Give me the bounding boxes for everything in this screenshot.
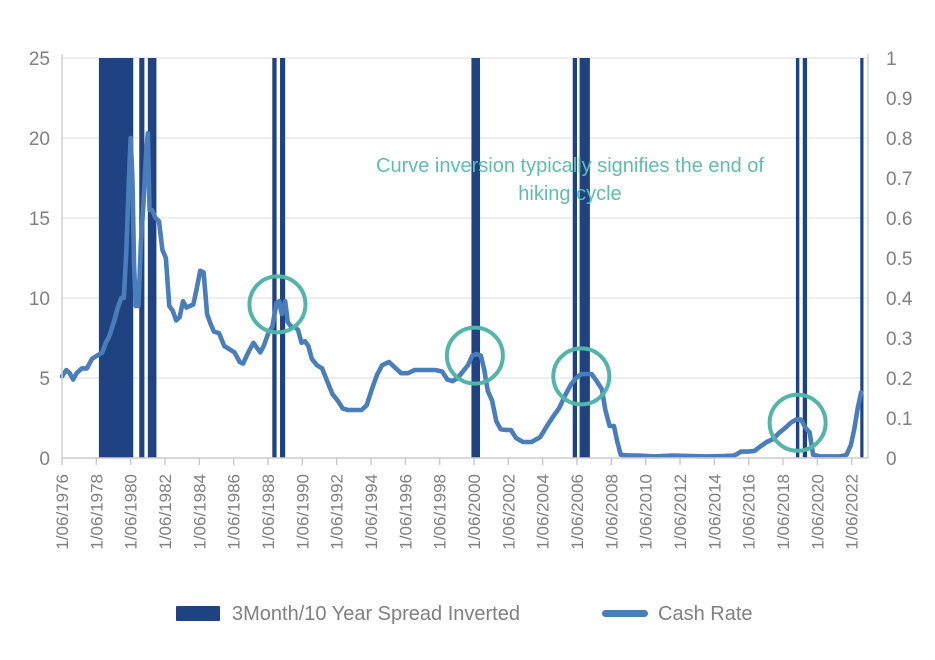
axes-group: 051015202500.10.20.30.40.50.60.70.80.91 bbox=[29, 49, 913, 470]
y-axis-right-tick-label: 0.1 bbox=[886, 409, 912, 430]
y-axis-right-tick-label: 0.8 bbox=[886, 129, 912, 150]
legend-swatch-spread-inverted bbox=[176, 606, 220, 621]
y-axis-left-tick-label: 25 bbox=[29, 49, 50, 70]
inversion-band bbox=[573, 58, 577, 458]
x-axis-tick-label: 1/06/1976 bbox=[53, 474, 72, 550]
inversion-band bbox=[471, 58, 480, 458]
legend-label-cash-rate: Cash Rate bbox=[658, 603, 753, 625]
x-axis-tick-label: 1/06/2010 bbox=[637, 474, 656, 550]
y-axis-right-tick-label: 1 bbox=[886, 49, 897, 70]
y-axis-left-tick-label: 15 bbox=[29, 209, 50, 230]
cash-rate-line-group bbox=[62, 133, 861, 456]
y-axis-right-tick-label: 0.2 bbox=[886, 369, 912, 390]
x-axis-tick-label: 1/06/1986 bbox=[225, 474, 244, 550]
inversion-bands-group bbox=[99, 58, 864, 458]
highlight-circles-group bbox=[249, 276, 825, 450]
y-axis-right-tick-label: 0.6 bbox=[886, 209, 912, 230]
x-axis-tick-label: 1/06/1996 bbox=[396, 474, 415, 550]
x-axis-tick-label: 1/06/1984 bbox=[190, 474, 209, 550]
y-axis-right-tick-label: 0.9 bbox=[886, 89, 912, 110]
cash-rate-inversion-chart: 051015202500.10.20.30.40.50.60.70.80.91 … bbox=[0, 0, 935, 655]
x-axis-tick-label: 1/06/2016 bbox=[740, 474, 759, 550]
annotation-line-1: Curve inversion typically signifies the … bbox=[376, 155, 764, 177]
legend-label-spread-inverted: 3Month/10 Year Spread Inverted bbox=[232, 603, 520, 625]
x-axis-tick-label: 1/06/1982 bbox=[156, 474, 175, 550]
x-axis-tick-label: 1/06/1990 bbox=[293, 474, 312, 550]
x-axis-tick-label: 1/06/1994 bbox=[362, 474, 381, 550]
chart-legend: 3Month/10 Year Spread Inverted Cash Rate bbox=[176, 603, 753, 625]
x-axis-tick-label: 1/06/2022 bbox=[843, 474, 862, 550]
inversion-band bbox=[580, 58, 590, 458]
x-axis-tick-label: 1/06/1998 bbox=[431, 474, 450, 550]
x-axis-tick-label: 1/06/2012 bbox=[671, 474, 690, 550]
y-axis-right-tick-label: 0.7 bbox=[886, 169, 912, 190]
chart-annotation-group: Curve inversion typically signifies the … bbox=[376, 155, 764, 205]
y-axis-right-tick-label: 0 bbox=[886, 449, 897, 470]
x-axis-tick-label: 1/06/2018 bbox=[774, 474, 793, 550]
x-axis-tick-label: 1/06/2006 bbox=[568, 474, 587, 550]
cash-rate-line bbox=[62, 133, 861, 456]
y-axis-right-tick-label: 0.4 bbox=[886, 289, 913, 310]
y-axis-right-tick-label: 0.5 bbox=[886, 249, 912, 270]
inversion-band bbox=[280, 58, 285, 458]
y-axis-right-tick-label: 0.3 bbox=[886, 329, 912, 350]
x-axis-tick-label: 1/06/1980 bbox=[122, 474, 141, 550]
x-axis-tick-label: 1/06/2000 bbox=[465, 474, 484, 550]
y-axis-left-tick-label: 0 bbox=[39, 449, 50, 470]
x-axis-tick-label: 1/06/2014 bbox=[705, 474, 724, 550]
chart-container: 051015202500.10.20.30.40.50.60.70.80.91 … bbox=[0, 0, 935, 655]
inversion-band bbox=[796, 58, 799, 458]
x-tick-labels-group: 1/06/19761/06/19781/06/19801/06/19821/06… bbox=[53, 474, 862, 550]
x-axis-tick-label: 1/06/2020 bbox=[808, 474, 827, 550]
x-axis-tick-label: 1/06/1978 bbox=[87, 474, 106, 550]
annotation-line-2: hiking cycle bbox=[518, 183, 621, 205]
y-axis-left-tick-label: 20 bbox=[29, 129, 50, 150]
x-axis-tick-label: 1/06/2008 bbox=[602, 474, 621, 550]
y-axis-left-tick-label: 5 bbox=[39, 369, 50, 390]
inversion-band bbox=[148, 58, 157, 458]
legend-swatch-cash-rate bbox=[602, 610, 648, 617]
x-axis-tick-label: 1/06/1992 bbox=[328, 474, 347, 550]
gridlines-group bbox=[62, 58, 868, 458]
inversion-band bbox=[272, 58, 276, 458]
x-axis-tick-label: 1/06/2002 bbox=[499, 474, 518, 550]
y-axis-left-tick-label: 10 bbox=[29, 289, 50, 310]
x-axis-tick-label: 1/06/1988 bbox=[259, 474, 278, 550]
x-axis-tick-label: 1/06/2004 bbox=[534, 474, 553, 550]
